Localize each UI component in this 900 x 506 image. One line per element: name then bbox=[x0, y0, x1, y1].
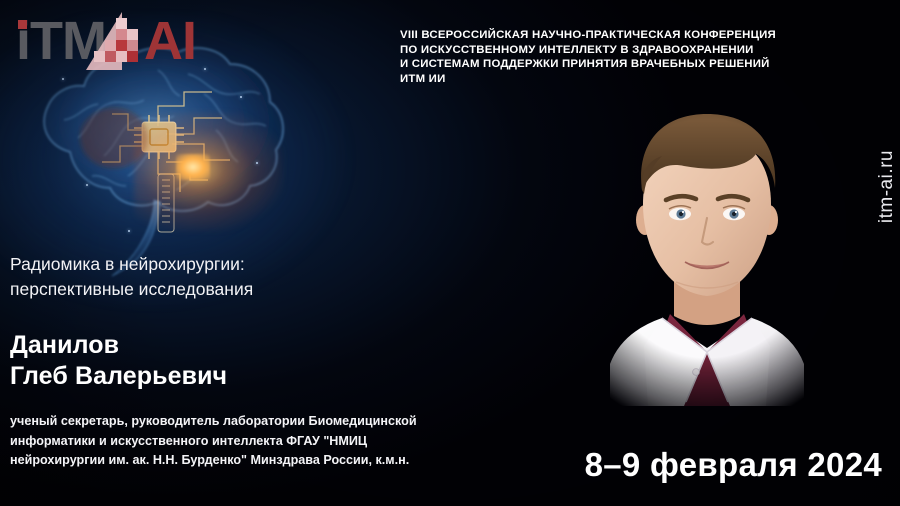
speaker-name: Данилов Глеб Валерьевич bbox=[10, 330, 430, 392]
speaker-role-line-3: нейрохирургии им. ак. Н.Н. Бурденко" Мин… bbox=[10, 451, 555, 471]
talk-title: Радиомика в нейрохирургии: перспективные… bbox=[10, 252, 410, 302]
conference-title-line-3: И СИСТЕМАМ ПОДДЕРЖКИ ПРИНЯТИЯ ВРАЧЕБНЫХ … bbox=[400, 57, 878, 72]
speaker-role-line-2: информатики и искусственного интеллекта … bbox=[10, 432, 555, 452]
conference-title-line-1: VIII ВСЕРОССИЙСКАЯ НАУЧНО-ПРАКТИЧЕСКАЯ К… bbox=[400, 28, 878, 43]
event-date: 8–9 февраля 2024 bbox=[585, 446, 882, 484]
itm-ai-logo[interactable]: iTM AI bbox=[16, 8, 196, 70]
conference-title-block: VIII ВСЕРОССИЙСКАЯ НАУЧНО-ПРАКТИЧЕСКАЯ К… bbox=[400, 28, 878, 86]
website-url-vertical[interactable]: itm-ai.ru bbox=[876, 150, 898, 223]
logo-pixel-mosaic-icon bbox=[86, 12, 148, 70]
conference-title-line-4: ИТМ ИИ bbox=[400, 72, 878, 87]
speaker-surname: Данилов bbox=[10, 330, 430, 361]
conference-title-line-2: ПО ИСКУССТВЕННОМУ ИНТЕЛЛЕКТУ В ЗДРАВООХР… bbox=[400, 43, 878, 58]
conference-announcement-slide: iTM AI VIII ВСЕРОССИЙСКАЯ НАУЧНО-ПРАКТИЧ… bbox=[0, 0, 900, 506]
speaker-role-affiliation: ученый секретарь, руководитель лаборатор… bbox=[10, 412, 555, 471]
logo-red-dot-icon bbox=[18, 20, 27, 29]
speaker-given-name: Глеб Валерьевич bbox=[10, 361, 430, 392]
talk-title-line-1: Радиомика в нейрохирургии: bbox=[10, 252, 410, 277]
speaker-role-line-1: ученый секретарь, руководитель лаборатор… bbox=[10, 412, 555, 432]
speaker-portrait-photo bbox=[566, 96, 848, 406]
talk-title-line-2: перспективные исследования bbox=[10, 277, 410, 302]
logo-ai-label: AI bbox=[144, 12, 196, 70]
